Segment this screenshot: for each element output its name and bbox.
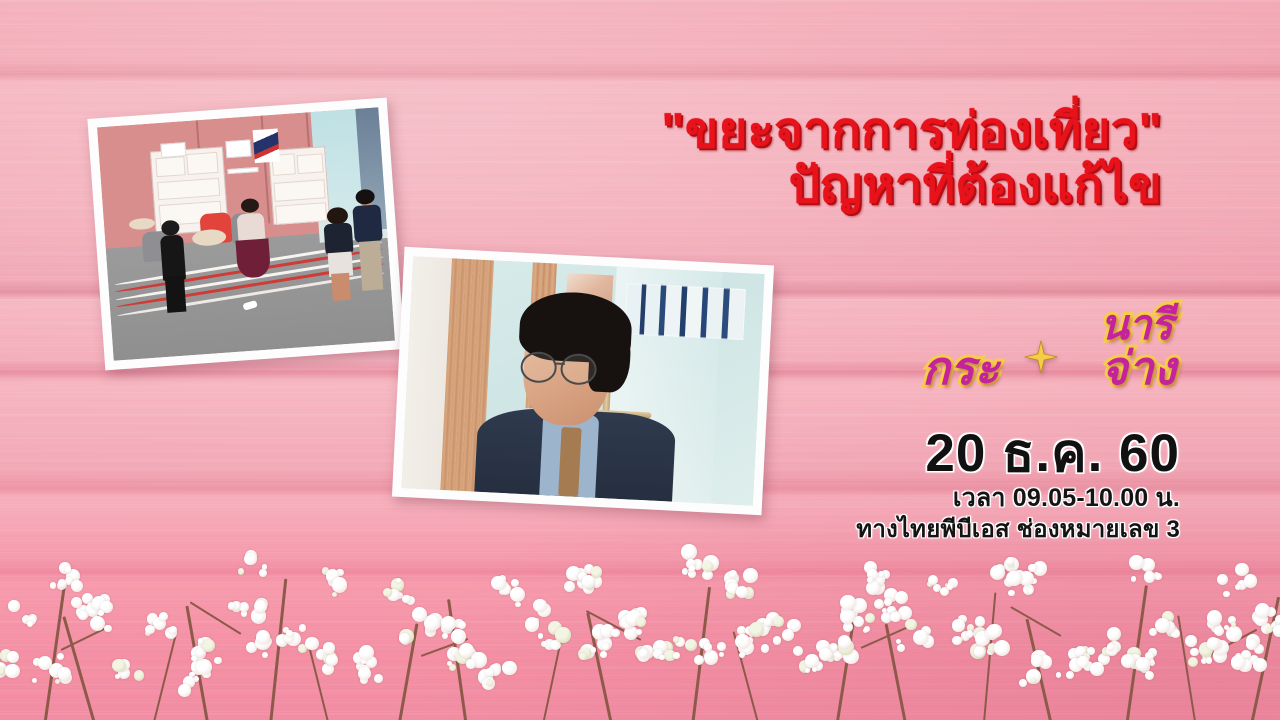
person-presenter-left <box>152 222 195 313</box>
interviewee-figure <box>493 289 658 501</box>
knit-tie <box>558 427 582 497</box>
four-point-star-icon <box>1024 340 1058 374</box>
interview-scene <box>401 256 764 506</box>
person-hair <box>356 189 376 205</box>
person-torso <box>352 204 382 243</box>
person-legs <box>359 241 384 292</box>
interview-image <box>401 256 764 506</box>
broadcast-schedule: 20 ธ.ค. 60 เวลา 09.05-10.00 น. ทางไทยพีบ… <box>760 426 1180 545</box>
page-title: "ขยะจากการท่องเที่ยว" ปัญหาที่ต้องแก้ไข <box>420 104 1190 215</box>
studio-scene <box>97 107 395 361</box>
wall-frame <box>160 142 186 158</box>
logo-word-jang: จ่าง <box>1101 332 1176 405</box>
broadcast-time: เวลา 09.05-10.00 น. <box>760 482 1180 514</box>
person-guest-center <box>230 200 276 292</box>
shelf-box <box>297 153 324 173</box>
coffee-table <box>192 228 227 247</box>
wall-frame <box>225 140 251 158</box>
hair-side <box>588 322 632 393</box>
broadcast-date: 20 ธ.ค. 60 <box>760 426 1180 482</box>
logo-word-kra: กระ <box>922 332 999 405</box>
person-hair <box>161 220 180 236</box>
shelf-box <box>273 179 325 201</box>
program-logo: นารี กระ จ่าง <box>900 296 1180 396</box>
person-legs <box>331 273 351 301</box>
person-guest-right <box>348 191 392 292</box>
studio-set-photo <box>87 98 404 371</box>
studio-set-image <box>97 107 395 361</box>
wall-poster <box>253 128 281 162</box>
person-torso <box>159 235 186 281</box>
eyeglasses-bridge <box>555 363 564 365</box>
person-torso <box>237 212 266 242</box>
shelf-box <box>156 156 185 177</box>
person-skirt <box>236 239 272 279</box>
person-hair <box>240 198 259 213</box>
shelf-box <box>187 152 219 175</box>
interview-photo <box>392 247 774 515</box>
title-line-2: ปัญหาที่ต้องแก้ไข <box>420 159 1162 214</box>
broadcast-channel: ทางไทยพีบีเอส ช่องหมายเลข 3 <box>760 514 1180 545</box>
wall-ledge <box>227 167 258 174</box>
title-line-1: "ขยะจากการท่องเที่ยว" <box>420 104 1162 159</box>
promo-graphic: "ขยะจากการท่องเที่ยว" ปัญหาที่ต้องแก้ไข … <box>0 0 1280 720</box>
litter-object <box>242 300 257 311</box>
person-legs <box>165 276 187 313</box>
